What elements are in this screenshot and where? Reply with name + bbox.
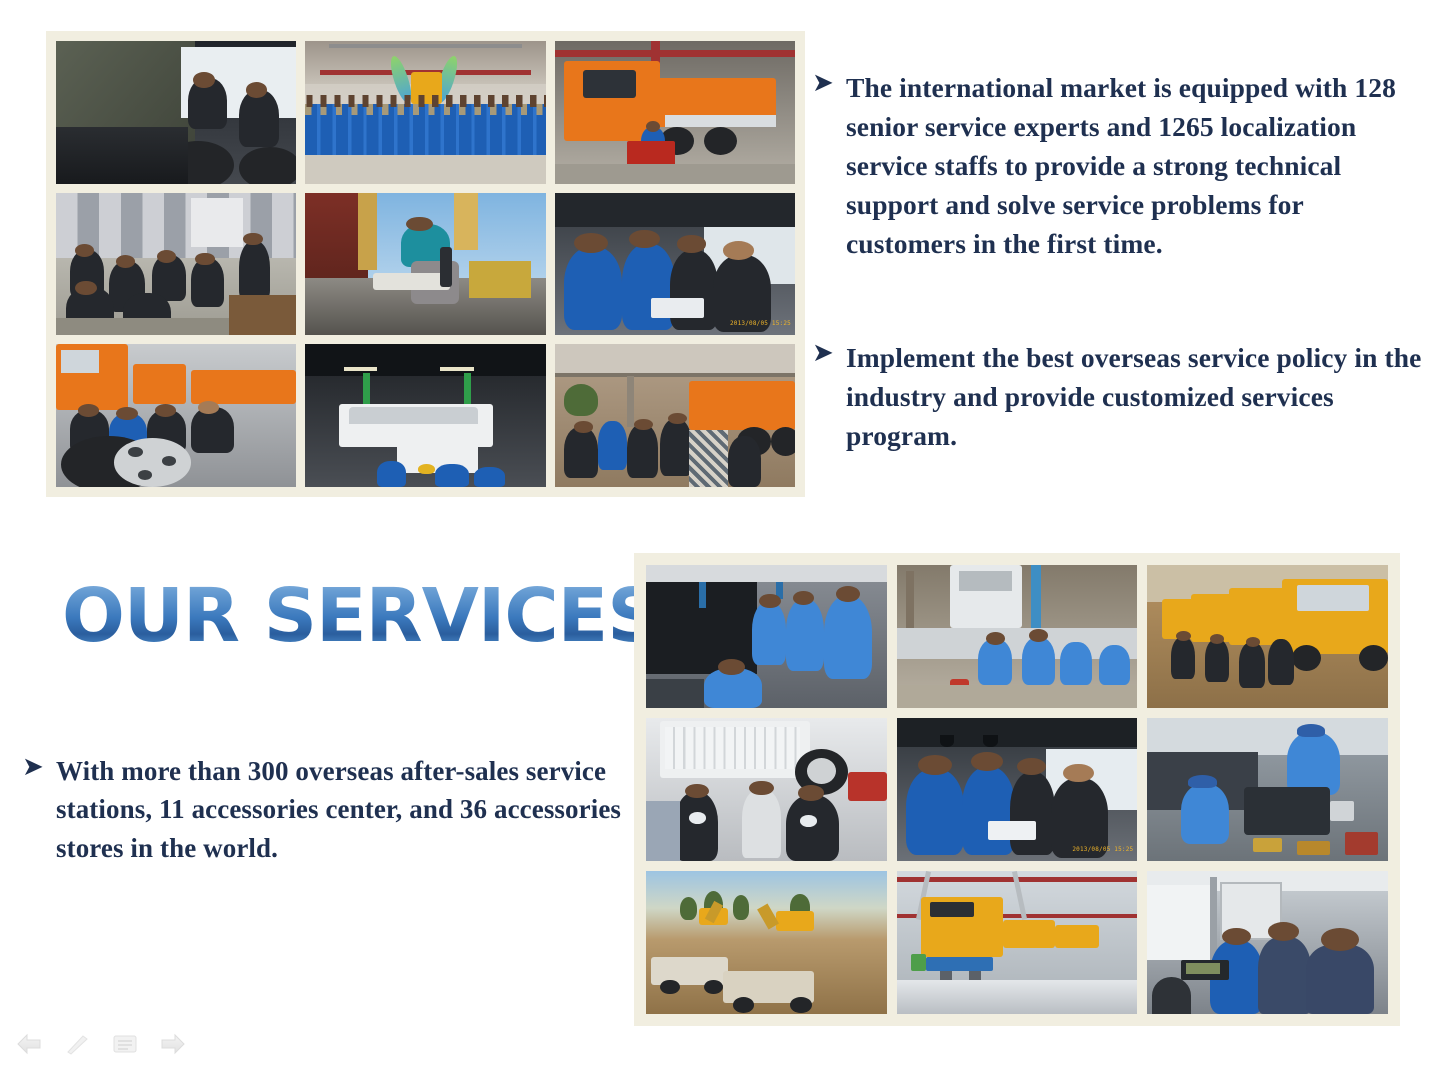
arrow-bullet-icon: ➤ — [812, 70, 846, 97]
bullet-item-1: ➤ The international market is equipped w… — [812, 68, 1427, 263]
right-arrow-icon — [160, 1033, 186, 1055]
collage-photo — [897, 871, 1138, 1014]
slideshow-nav-bar — [16, 1030, 186, 1058]
arrow-bullet-icon: ➤ — [812, 340, 846, 367]
collage-photo — [56, 193, 296, 336]
bullet-text-3: With more than 300 overseas after-sales … — [56, 752, 637, 867]
slide-menu-button[interactable] — [112, 1033, 138, 1055]
bullet-text-2: Implement the best overseas service poli… — [846, 338, 1427, 455]
arrow-bullet-icon: ➤ — [22, 754, 56, 781]
photo-timestamp: 2013/08/05 15:25 — [1072, 846, 1133, 853]
collage-photo — [555, 41, 795, 184]
previous-slide-button[interactable] — [16, 1033, 42, 1055]
left-arrow-icon — [16, 1033, 42, 1055]
bullet-text-1: The international market is equipped wit… — [846, 68, 1427, 263]
pen-icon — [64, 1033, 90, 1055]
collage-photo: 2013/08/05 15:25 — [897, 718, 1138, 861]
presentation-slide: 2013/08/05 15:25 — [0, 0, 1430, 1066]
collage-photo — [56, 344, 296, 487]
collage-photo — [305, 344, 545, 487]
photo-timestamp: 2013/08/05 15:25 — [730, 320, 791, 327]
collage-photo — [1147, 718, 1388, 861]
collage-photo — [1147, 871, 1388, 1014]
pen-tool-button[interactable] — [64, 1033, 90, 1055]
bullet-item-3: ➤ With more than 300 overseas after-sale… — [22, 752, 637, 867]
slide-title-wordart: OUR SERVICES OUR SERVICES OUR SERVICES — [62, 575, 622, 735]
collage-photo — [1147, 565, 1388, 708]
page-title: OUR SERVICES — [62, 575, 660, 657]
collage-photo: 2013/08/05 15:25 — [555, 193, 795, 336]
collage-photo — [305, 193, 545, 336]
collage-photo — [646, 718, 887, 861]
photo-collage-top: 2013/08/05 15:25 — [46, 31, 805, 497]
title-reflection: OUR SERVICES — [62, 655, 622, 733]
next-slide-button[interactable] — [160, 1033, 186, 1055]
bullet-item-2: ➤ Implement the best overseas service po… — [812, 338, 1427, 455]
collage-photo — [305, 41, 545, 184]
collage-photo — [555, 344, 795, 487]
collage-photo — [56, 41, 296, 184]
collage-photo — [646, 565, 887, 708]
collage-photo — [897, 565, 1138, 708]
photo-collage-bottom: 2013/08/05 15:25 — [634, 553, 1400, 1026]
collage-photo — [646, 871, 887, 1014]
menu-icon — [112, 1033, 138, 1055]
